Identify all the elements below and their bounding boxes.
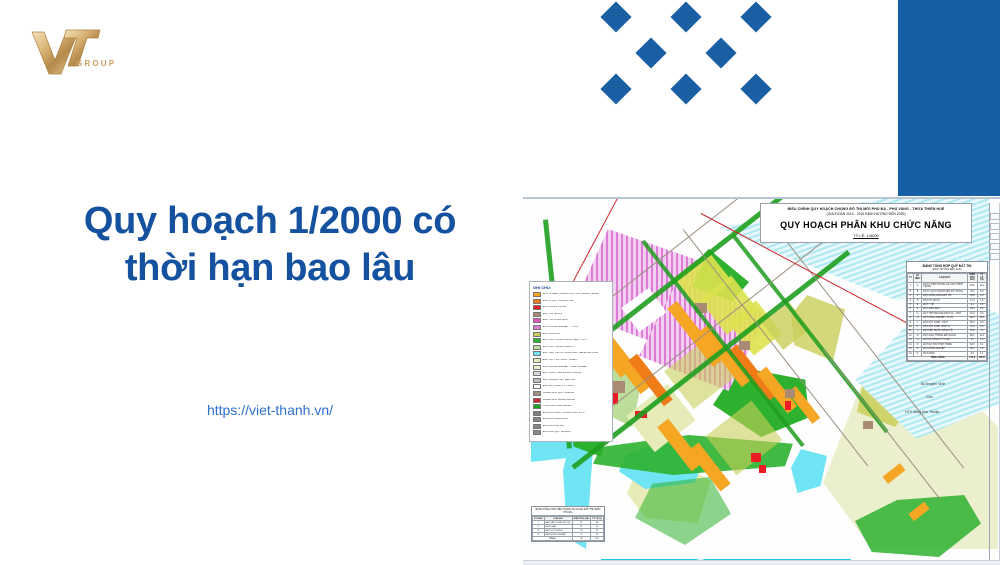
map-title-line2: (GIAI ĐOẠN 2010 - 2015 ĐỊNH HƯỚNG ĐẾN 20… xyxy=(763,212,969,217)
map-legend-label: ĐẤT CÂY XANH CÁCH LY xyxy=(543,346,575,349)
vt-group-logo[interactable]: GROUP xyxy=(28,26,120,80)
map-legend-label: ĐƯỜNG GIAO THÔNG KHU VỰC xyxy=(543,412,585,415)
map-legend-swatch xyxy=(533,371,541,376)
map-legend-swatch xyxy=(533,424,541,429)
map-canvas: ĐIỀU CHỈNH QUY HOẠCH CHUNG ĐÔ THỊ MỚI PH… xyxy=(523,199,1000,565)
map-legend-swatch xyxy=(533,384,541,389)
map-legend-label: RANH GIỚI QUY HOẠCH xyxy=(543,392,574,395)
map-sub-table-body: IĐẤT XÂY DỰNG ĐÔ THỊ4238IIĐẤT KHÁC2124II… xyxy=(533,521,604,541)
map-legend-swatch xyxy=(533,365,541,370)
page-title-line1: Quy hoạch 1/2000 có xyxy=(20,198,520,245)
map-legend-item: ĐƯỜNG GIAO THÔNG KHU VỰC xyxy=(533,411,609,416)
table-row: 1AĐẤT Ở HIỆN TRẠNG CẢI TẠO CHỈNH TRANG93… xyxy=(908,283,987,290)
map-legend-label: ĐƯỜNG PHÂN KHU xyxy=(543,418,568,421)
map-legend-swatch xyxy=(533,351,541,356)
map-title-scale: TỶ LỆ: 1/5000 xyxy=(763,233,969,238)
map-legend-item: ĐẤT MẶT NƯỚC SÔNG HỒ, KÊNH MƯƠNG xyxy=(533,351,609,356)
map-sub-table-total-row: TỔNG90100 xyxy=(533,537,604,541)
map-side-chip xyxy=(990,233,1000,240)
map-legend-item: TRỤC ĐƯỜNG CHÍNH xyxy=(533,404,609,409)
map-stats-header-cell: TỶ LỆ (%) xyxy=(977,273,986,283)
map-legend-item: ĐẤT DỰ TRỮ PHÁT TRIỂN xyxy=(533,358,609,363)
page-title-line2: thời hạn bao lâu xyxy=(20,245,520,292)
diamond-8 xyxy=(740,73,771,104)
map-stats-cell: 93.5 xyxy=(968,283,977,290)
map-legend-item: ĐẤT Ở HIỆN TRẠNG CẢI TẠO CHỈNH TRANG xyxy=(533,292,609,297)
map-side-chip xyxy=(990,213,1000,220)
map-legend-item: ĐẤT CÔNG CỘNG xyxy=(533,305,609,310)
map-stats-header-cell: LOẠI ĐẤT xyxy=(922,273,968,283)
diamond-1 xyxy=(600,1,631,32)
map-sub-table-grid: KÝ HIỆULOẠI ĐẤTDIỆN TÍCH (HA)TỶ LỆ (%) I… xyxy=(532,516,604,541)
map-legend-label: ĐƯỜNG QUY HOẠCH xyxy=(543,431,571,434)
diamond-4 xyxy=(635,37,666,68)
map-legend-swatch xyxy=(533,398,541,403)
page-title: Quy hoạch 1/2000 có thời hạn bao lâu xyxy=(20,198,520,292)
map-sub-total-area: 90 xyxy=(572,537,591,541)
map-stats-table: BẢNG TỔNG HỢP QUỸ ĐẤT THỊ (ĐỊNH HƯỚNG ĐẾ… xyxy=(906,261,988,362)
map-legend-swatch xyxy=(533,325,541,330)
map-legend-swatch xyxy=(533,292,541,297)
map-legend-label: ĐẤT Ở QUY HOẠCH MỚI xyxy=(543,300,574,303)
map-zone-admin-2 xyxy=(739,341,750,350)
map-legend-swatch xyxy=(533,332,541,337)
map-legend-item: ĐẤT CƠ QUAN xyxy=(533,312,609,317)
map-legend-swatch xyxy=(533,417,541,422)
map-legend-label: ĐẤT CÔNG NGHIỆP - TTCN xyxy=(543,326,578,329)
map-legend-swatch xyxy=(533,338,541,343)
map-legend-label: ĐẤT TRƯỜNG HỌC xyxy=(543,319,568,322)
map-legend-label: ĐẤT HẠ TẦNG KỸ THUẬT xyxy=(543,385,575,388)
map-legend-label: ĐẤT MẶT NƯỚC SÔNG HỒ, KÊNH MƯƠNG xyxy=(543,352,598,355)
diamond-7 xyxy=(670,73,701,104)
map-legend-rows: ĐẤT Ở HIỆN TRẠNG CẢI TẠO CHỈNH TRANGĐẤT … xyxy=(533,292,609,435)
map-legend-item: RANH GIỚI HÀNH CHÍNH xyxy=(533,398,609,403)
map-legend-swatch xyxy=(533,312,541,317)
map-legend-label: TRỤC ĐƯỜNG CHÍNH xyxy=(543,405,571,408)
vt-logo-mark xyxy=(28,26,120,80)
map-stats-total-label: TỔNG CỘNG xyxy=(908,356,968,360)
map-legend-item: ĐẤT GIAO THÔNG ĐỐI NGOẠI xyxy=(533,371,609,376)
map-stats-total-area: 771.0 xyxy=(968,356,977,360)
map-legend-item: ĐƯỜNG NỘI BỘ xyxy=(533,424,609,429)
map-legend-swatch xyxy=(533,430,541,435)
diamond-3 xyxy=(740,1,771,32)
diamond-2 xyxy=(670,1,701,32)
map-legend-label: ĐẤT GIAO THÔNG ĐỐI NGOẠI xyxy=(543,372,581,375)
map-side-chip xyxy=(990,253,1000,260)
map-legend-swatch xyxy=(533,318,541,323)
map-legend-title: GHI CHÚ: xyxy=(533,285,609,290)
map-stats-total-row: TỔNG CỘNG771.0100.0 xyxy=(908,356,987,360)
map-legend-item: ĐẤT BÃI ĐỖ XE - BẾN XE xyxy=(533,378,609,383)
map-side-chip xyxy=(990,243,1000,250)
map-legend-item: ĐƯỜNG PHÂN KHU xyxy=(533,417,609,422)
map-zone-public-6 xyxy=(785,401,791,410)
map-legend-swatch xyxy=(533,404,541,409)
map-stats-header-cell: DIỆN TÍCH (HA) xyxy=(968,273,977,283)
map-legend-swatch xyxy=(533,378,541,383)
map-sub-table: BẢNG TỔNG HỢP HIỆN TRẠNG SỬ DỤNG ĐẤT THỊ… xyxy=(531,506,605,542)
map-stats-grid: TTKÝ HIỆULOẠI ĐẤTDIỆN TÍCH (HA)TỶ LỆ (%)… xyxy=(907,273,987,362)
map-zone-public-5 xyxy=(759,465,766,473)
map-stats-total-pct: 100.0 xyxy=(977,356,986,360)
map-water-pond-south xyxy=(791,449,827,493)
map-legend-item: ĐẤT HẠ TẦNG KỸ THUẬT xyxy=(533,384,609,389)
map-legend-swatch xyxy=(533,411,541,416)
map-legend-label: ĐẤT BÃI ĐỖ XE - BẾN XE xyxy=(543,379,575,382)
map-legend-swatch xyxy=(533,345,541,350)
map-legend-label: RANH GIỚI HÀNH CHÍNH xyxy=(543,399,575,402)
map-legend-item: ĐẤT CÂY XANH CÔNG VIÊN - TDTT xyxy=(533,338,609,343)
map-annotation-label: Cồn xyxy=(926,395,933,399)
map-legend-item: ĐẤT CÔNG NGHIỆP - TTCN xyxy=(533,325,609,330)
map-side-chip xyxy=(990,223,1000,230)
map-annotation-label: HTX đồng tôm Thuận xyxy=(905,410,939,414)
map-legend: GHI CHÚ: ĐẤT Ở HIỆN TRẠNG CẢI TẠO CHỈNH … xyxy=(529,281,613,442)
map-legend-label: ĐẤT CÂY XANH CÔNG VIÊN - TDTT xyxy=(543,339,588,342)
map-legend-label: ĐẤT Ở HIỆN TRẠNG CẢI TẠO CHỈNH TRANG xyxy=(543,293,599,296)
map-legend-label: ĐẤT CÔNG CỘNG xyxy=(543,306,566,309)
map-legend-item: RANH GIỚI QUY HOẠCH xyxy=(533,391,609,396)
map-annotation-label: Âu thuyền Vinh xyxy=(921,382,945,386)
map-legend-swatch xyxy=(533,305,541,310)
map-legend-swatch xyxy=(533,299,541,304)
map-sub-total-label: TỔNG xyxy=(533,537,573,541)
map-legend-label: ĐẤT DỊCH VỤ xyxy=(543,333,560,336)
map-legend-label: ĐẤT DỰ TRỮ PHÁT TRIỂN xyxy=(543,359,577,362)
map-legend-swatch xyxy=(533,358,541,363)
map-stats-cell: ĐẤT Ở HIỆN TRẠNG CẢI TẠO CHỈNH TRANG xyxy=(922,283,968,290)
map-title-cartouche: ĐIỀU CHỈNH QUY HOẠCH CHUNG ĐÔ THỊ MỚI PH… xyxy=(760,203,972,243)
map-sub-table-title: BẢNG TỔNG HỢP HIỆN TRẠNG SỬ DỤNG ĐẤT THỊ… xyxy=(532,507,604,516)
map-sub-total-pct: 100 xyxy=(591,537,604,541)
diamond-5 xyxy=(705,37,736,68)
zoning-plan-image[interactable]: ĐIỀU CHỈNH QUY HOẠCH CHUNG ĐÔ THỊ MỚI PH… xyxy=(523,197,1000,565)
map-zone-admin-5 xyxy=(863,421,873,429)
map-legend-swatch xyxy=(533,391,541,396)
map-legend-item: ĐƯỜNG QUY HOẠCH xyxy=(533,430,609,435)
map-stats-cell: A xyxy=(913,283,921,290)
map-zone-admin-4 xyxy=(785,389,795,398)
map-legend-label: ĐẤT NÔNG NGHIỆP - LÂM NGHIỆP xyxy=(543,366,587,369)
map-legend-label: ĐẤT CƠ QUAN xyxy=(543,313,562,316)
logo-wordmark: GROUP xyxy=(76,59,116,68)
map-side-thumbnails xyxy=(990,213,999,263)
map-stats-cell: 12.1 xyxy=(977,283,986,290)
diamond-6 xyxy=(600,73,631,104)
site-url-link[interactable]: https://viet-thanh.vn/ xyxy=(20,402,520,418)
map-legend-label: ĐƯỜNG NỘI BỘ xyxy=(543,425,564,428)
map-title-line3: QUY HOẠCH PHÂN KHU CHỨC NĂNG xyxy=(763,220,969,232)
map-stats-header-row: TTKÝ HIỆULOẠI ĐẤTDIỆN TÍCH (HA)TỶ LỆ (%) xyxy=(908,273,987,283)
map-stats-body: 1AĐẤT Ở HIỆN TRẠNG CẢI TẠO CHỈNH TRANG93… xyxy=(908,283,987,361)
map-legend-item: ĐẤT CÂY XANH CÁCH LY xyxy=(533,345,609,350)
header-blue-block xyxy=(898,0,1000,196)
map-legend-item: ĐẤT NÔNG NGHIỆP - LÂM NGHIỆP xyxy=(533,365,609,370)
map-legend-item: ĐẤT DỊCH VỤ xyxy=(533,332,609,337)
map-legend-item: ĐẤT TRƯỜNG HỌC xyxy=(533,318,609,323)
map-legend-item: ĐẤT Ở QUY HOẠCH MỚI xyxy=(533,299,609,304)
map-zone-public-4 xyxy=(751,453,761,462)
diamond-grid xyxy=(605,6,785,101)
map-stats-header-cell: KÝ HIỆU xyxy=(913,273,921,283)
map-zone-admin-3 xyxy=(611,381,625,393)
